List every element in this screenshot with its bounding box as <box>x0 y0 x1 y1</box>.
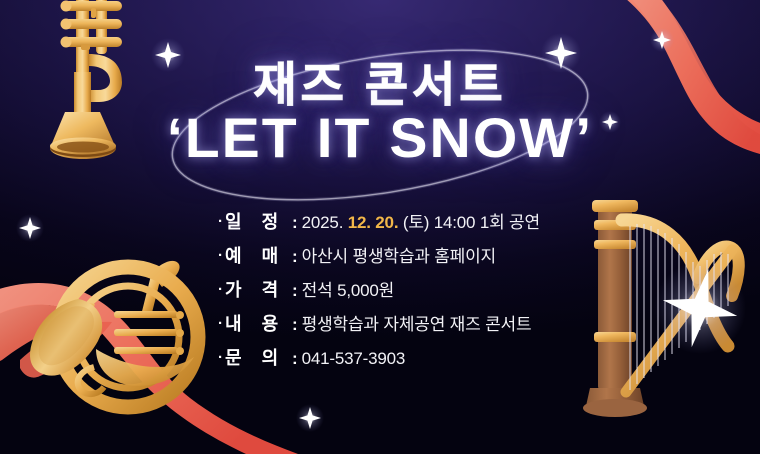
date-highlight: 12. 20. <box>348 213 399 232</box>
colon: : <box>292 281 298 301</box>
contact-label: · 문 의 <box>218 344 292 370</box>
title-english: ‘LET IT SNOW’ <box>0 111 760 165</box>
content-value: 평생학습과 자체공연 재즈 콘서트 <box>302 310 532 335</box>
bullet-icon: · <box>218 315 223 332</box>
date-label: · 일 정 <box>218 208 292 234</box>
content-label: · 내 용 <box>218 310 292 336</box>
contact-value: 041-537-3903 <box>302 349 405 369</box>
colon: : <box>292 315 298 335</box>
price-row: · 가 격 : 전석 5,000원 <box>218 276 540 310</box>
colon: : <box>292 213 298 233</box>
colon: : <box>292 349 298 369</box>
french-horn-illustration <box>16 255 226 430</box>
bullet-icon: · <box>218 281 223 298</box>
detail-list: · 일 정 : 2025. 12. 20. (토) 14:00 1회 공연 · … <box>218 208 540 378</box>
booking-label: · 예 매 <box>218 242 292 268</box>
content-row: · 내 용 : 평생학습과 자체공연 재즈 콘서트 <box>218 310 540 344</box>
date-value: 2025. 12. 20. (토) 14:00 1회 공연 <box>302 208 540 233</box>
bullet-icon: · <box>218 213 223 230</box>
colon: : <box>292 247 298 267</box>
concert-poster: 재즈 콘서트 ‘LET IT SNOW’ · 일 정 : 2025. 12. 2… <box>0 0 760 454</box>
bullet-icon: · <box>218 247 223 264</box>
contact-row: · 문 의 : 041-537-3903 <box>218 344 540 378</box>
bullet-icon: · <box>218 349 223 366</box>
harp-illustration <box>582 192 754 432</box>
date-row: · 일 정 : 2025. 12. 20. (토) 14:00 1회 공연 <box>218 208 540 242</box>
poster-title: 재즈 콘서트 ‘LET IT SNOW’ <box>0 62 760 165</box>
title-korean: 재즈 콘서트 <box>0 62 760 107</box>
booking-row: · 예 매 : 아산시 평생학습과 홈페이지 <box>218 242 540 276</box>
price-label: · 가 격 <box>218 276 292 302</box>
price-value: 전석 5,000원 <box>302 276 394 301</box>
booking-value: 아산시 평생학습과 홈페이지 <box>302 242 496 267</box>
